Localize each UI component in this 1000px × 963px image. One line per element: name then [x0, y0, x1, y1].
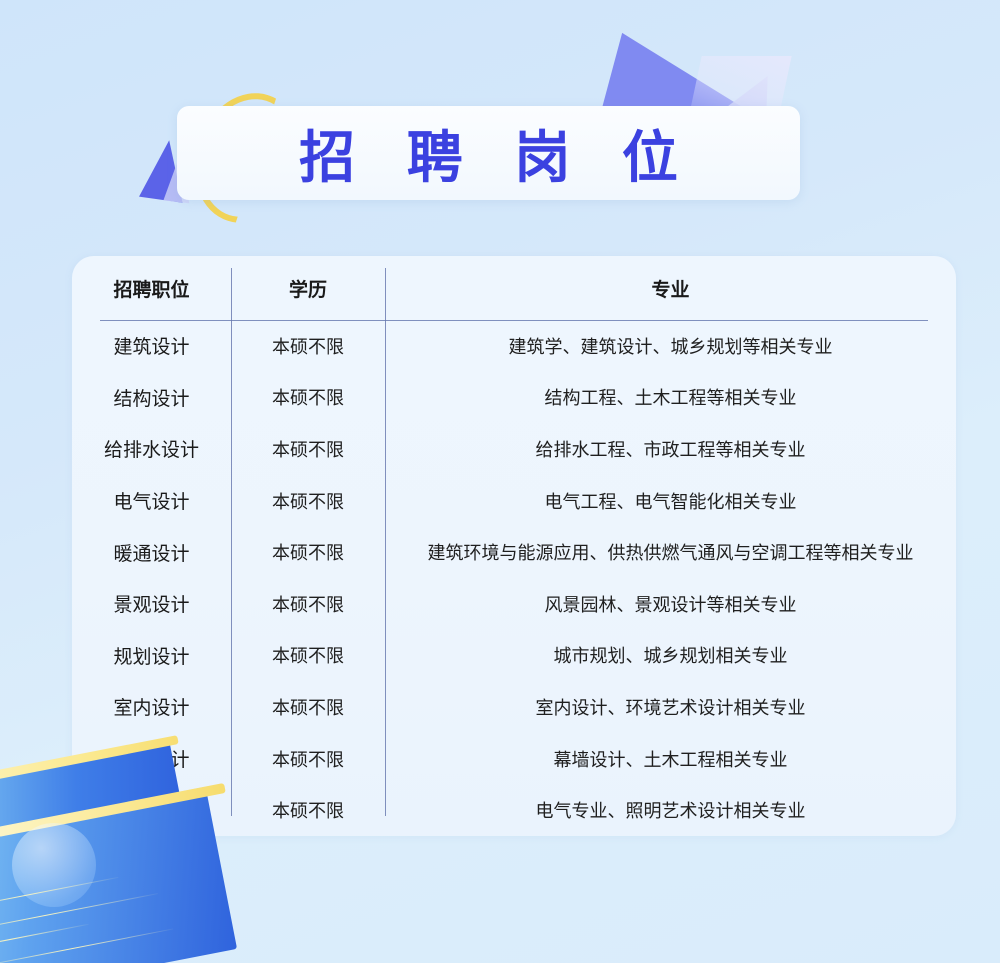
cell-major: 室内设计、环境艺术设计相关专业	[385, 681, 956, 733]
cell-position: 室内设计	[72, 681, 231, 733]
cell-major: 给排水工程、市政工程等相关专业	[385, 423, 956, 475]
recruitment-poster: 招 聘 岗 位 招聘职位 学历 专业 建筑设计 本硕不限 建筑学、建筑设计、城乡…	[0, 0, 1000, 963]
corner-decoration	[0, 743, 270, 963]
cell-education: 本硕不限	[231, 630, 385, 682]
table-row: 建筑设计 本硕不限 建筑学、建筑设计、城乡规划等相关专业	[72, 320, 956, 372]
table-header-row: 招聘职位 学历 专业	[72, 256, 956, 320]
cell-major: 电气专业、照明艺术设计相关专业	[385, 784, 956, 836]
cell-major: 风景园林、景观设计等相关专业	[385, 578, 956, 630]
cell-major: 建筑学、建筑设计、城乡规划等相关专业	[385, 320, 956, 372]
table-row: 给排水设计 本硕不限 给排水工程、市政工程等相关专业	[72, 423, 956, 475]
table-row: 结构设计 本硕不限 结构工程、土木工程等相关专业	[72, 372, 956, 424]
column-divider-1	[231, 268, 232, 816]
cell-position: 电气设计	[72, 475, 231, 527]
column-divider-2	[385, 268, 386, 816]
table-row: 电气设计 本硕不限 电气工程、电气智能化相关专业	[72, 475, 956, 527]
column-header-education: 学历	[231, 256, 385, 320]
cell-position: 规划设计	[72, 630, 231, 682]
cell-major: 电气工程、电气智能化相关专业	[385, 475, 956, 527]
table-row: 暖通设计 本硕不限 建筑环境与能源应用、供热供燃气通风与空调工程等相关专业	[72, 526, 956, 578]
cell-position: 给排水设计	[72, 423, 231, 475]
cell-position: 建筑设计	[72, 320, 231, 372]
cell-education: 本硕不限	[231, 372, 385, 424]
cell-major: 结构工程、土木工程等相关专业	[385, 372, 956, 424]
cell-education: 本硕不限	[231, 320, 385, 372]
column-header-position: 招聘职位	[72, 256, 231, 320]
cell-major: 幕墙设计、土木工程相关专业	[385, 733, 956, 785]
cell-education: 本硕不限	[231, 475, 385, 527]
header-divider	[100, 320, 928, 321]
table-row: 室内设计 本硕不限 室内设计、环境艺术设计相关专业	[72, 681, 956, 733]
cell-major: 城市规划、城乡规划相关专业	[385, 630, 956, 682]
cell-education: 本硕不限	[231, 681, 385, 733]
cell-position: 景观设计	[72, 578, 231, 630]
column-header-major: 专业	[385, 256, 956, 320]
cell-position: 暖通设计	[72, 526, 231, 578]
cell-education: 本硕不限	[231, 578, 385, 630]
page-title: 招 聘 岗 位	[177, 106, 800, 200]
cell-education: 本硕不限	[231, 526, 385, 578]
table-row: 景观设计 本硕不限 风景园林、景观设计等相关专业	[72, 578, 956, 630]
cell-education: 本硕不限	[231, 423, 385, 475]
cell-major: 建筑环境与能源应用、供热供燃气通风与空调工程等相关专业	[385, 526, 956, 578]
table-row: 规划设计 本硕不限 城市规划、城乡规划相关专业	[72, 630, 956, 682]
cell-position: 结构设计	[72, 372, 231, 424]
